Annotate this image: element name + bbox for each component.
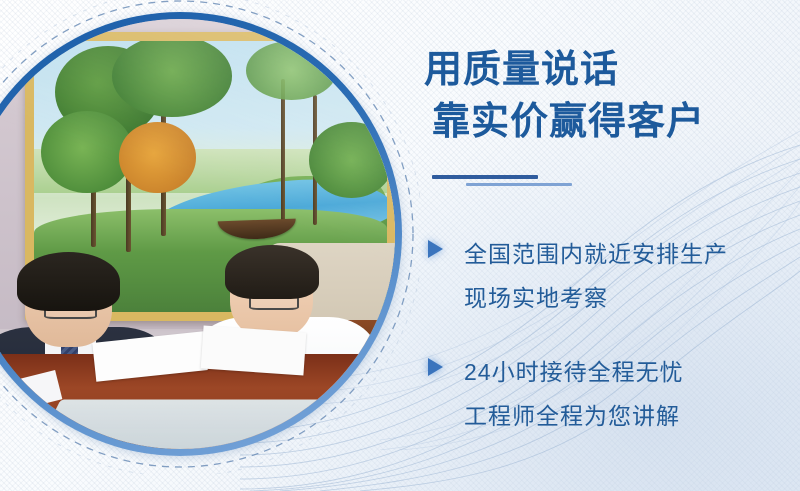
title-divider-dark — [432, 175, 538, 179]
title-line-1: 用质量说话 — [424, 44, 800, 96]
feature-text: 24小时接待全程无忧 — [464, 350, 800, 394]
feature-text: 全国范围内就近安排生产 — [464, 232, 800, 276]
promo-banner: 用质量说话 靠实价赢得客户 全国范围内就近安排生产 现场实地考察 24小时接待全… — [0, 0, 800, 491]
arrow-right-icon — [428, 358, 443, 376]
feature-text: 现场实地考察 — [464, 276, 800, 320]
photo-circle — [0, 12, 402, 456]
list-item: 全国范围内就近安排生产 现场实地考察 — [424, 232, 800, 320]
feature-list: 全国范围内就近安排生产 现场实地考察 24小时接待全程无忧 工程师全程为您讲解 — [424, 232, 800, 468]
list-item: 24小时接待全程无忧 工程师全程为您讲解 — [424, 350, 800, 438]
page-title: 用质量说话 靠实价赢得客户 — [424, 44, 800, 148]
content-panel: 用质量说话 靠实价赢得客户 全国范围内就近安排生产 现场实地考察 24小时接待全… — [424, 0, 800, 491]
arrow-right-icon — [428, 240, 443, 258]
feature-text: 工程师全程为您讲解 — [464, 394, 800, 438]
meeting-photo — [0, 19, 395, 449]
title-line-2: 靠实价赢得客户 — [424, 96, 800, 148]
title-divider-light — [466, 183, 572, 186]
